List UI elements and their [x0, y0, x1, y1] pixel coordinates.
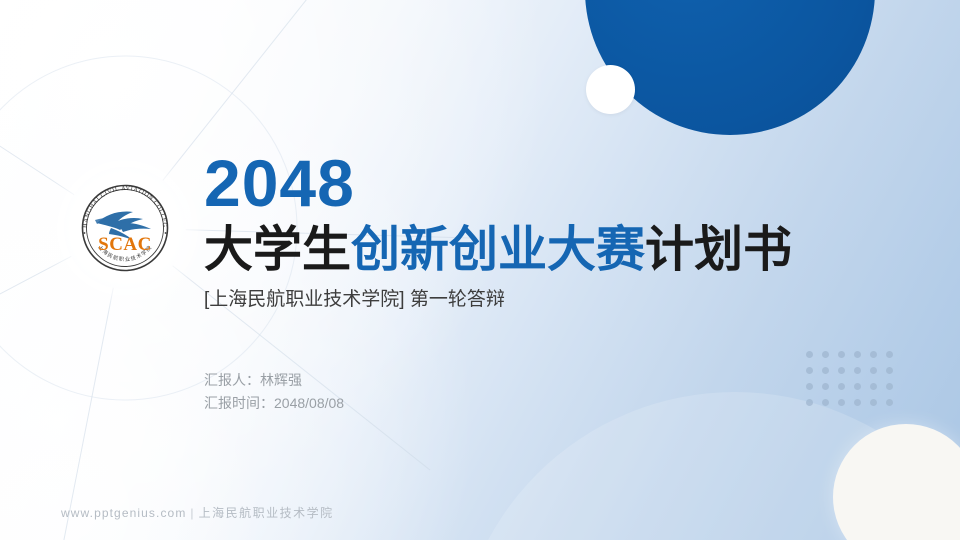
presentation-meta: 汇报人：林辉强 汇报时间：2048/08/08 — [204, 369, 344, 415]
date-line: 汇报时间：2048/08/08 — [204, 392, 344, 415]
subtitle: [上海民航职业技术学院] 第一轮答辩 — [204, 287, 904, 313]
footer-separator: | — [186, 506, 198, 520]
year-heading: 2048 — [204, 150, 904, 216]
title-part-3: 计划书 — [645, 223, 792, 277]
scac-emblem-icon: SHANGHAI CIVIL AVIATION COLLEGE 上海民航职业技术… — [73, 176, 177, 280]
title-block: 2048 大学生创新创业大赛计划书 [上海民航职业技术学院] 第一轮答辩 — [204, 150, 904, 313]
dot-grid-pattern — [806, 351, 902, 415]
footer-organization: 上海民航职业技术学院 — [199, 506, 334, 520]
presentation-slide: SHANGHAI CIVIL AVIATION COLLEGE 上海民航职业技术… — [0, 0, 960, 540]
footer: www.pptgenius.com|上海民航职业技术学院 — [61, 504, 334, 521]
school-logo: SHANGHAI CIVIL AVIATION COLLEGE 上海民航职业技术… — [64, 167, 186, 289]
logo-acronym: SCAC — [98, 234, 152, 255]
title-part-1: 大学生 — [204, 223, 351, 277]
presenter-line: 汇报人：林辉强 — [204, 369, 344, 392]
page-title: 大学生创新创业大赛计划书 — [204, 222, 904, 278]
title-part-highlight: 创新创业大赛 — [351, 223, 645, 277]
footer-website: www.pptgenius.com — [61, 506, 186, 520]
